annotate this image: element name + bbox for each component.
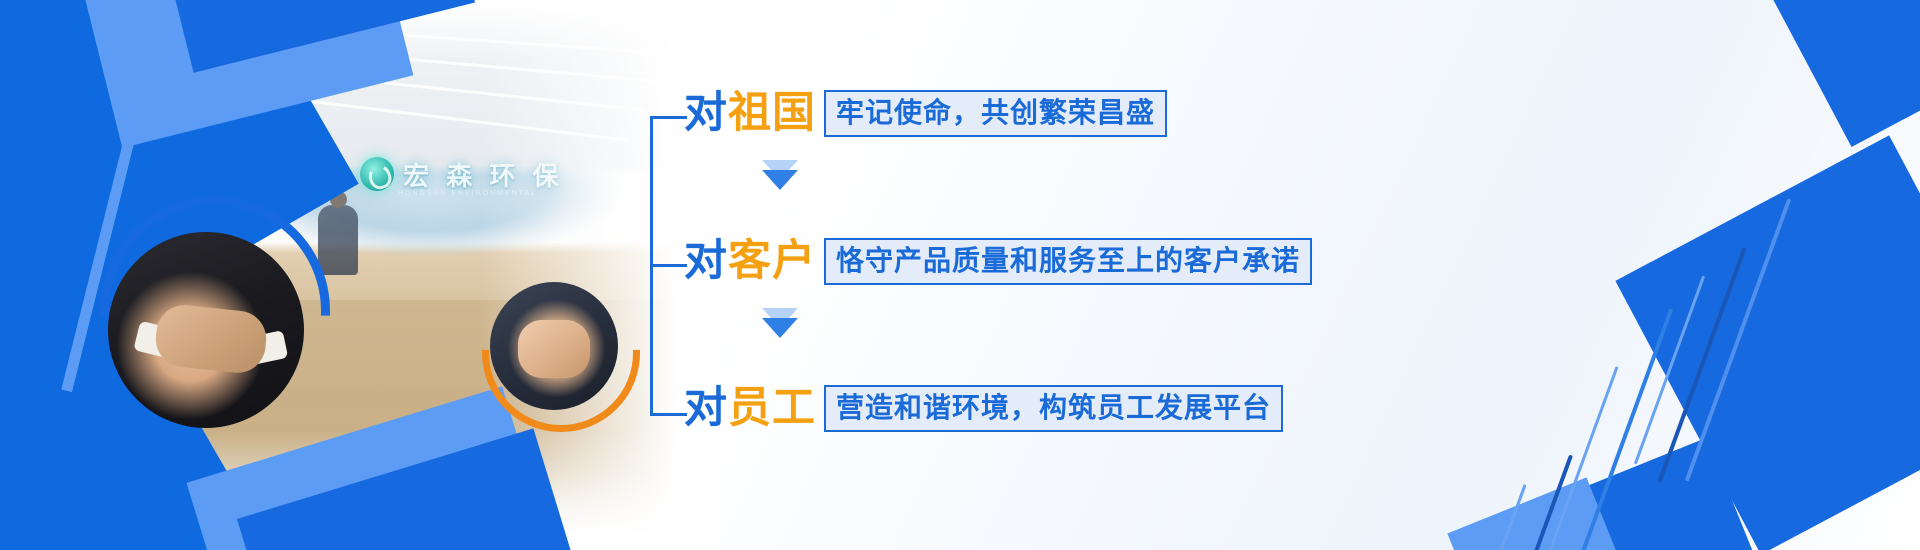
value-row-country[interactable]: 对祖国 牢记使命，共创繁荣昌盛 — [684, 90, 1167, 137]
value-lead-prefix: 对 — [684, 240, 728, 283]
decor-polygon-top-right — [1739, 0, 1920, 147]
triangle-down-icon — [762, 318, 798, 338]
bracket-connector — [650, 116, 687, 416]
value-lead-prefix: 对 — [684, 387, 728, 430]
value-lead-keyword: 祖国 — [728, 92, 816, 135]
value-lead-prefix: 对 — [684, 92, 728, 135]
values-list: 对祖国 牢记使命，共创繁荣昌盛 对客户 恪守产品质量和服务至上的客户承诺 对员工… — [650, 60, 1390, 480]
value-lead-customer: 对客户 — [684, 240, 816, 283]
value-tag-country: 牢记使命，共创繁荣昌盛 — [824, 90, 1167, 137]
receptionist-figure — [318, 205, 358, 275]
value-lead-employee: 对员工 — [684, 387, 816, 430]
bracket-tick-bottom — [653, 413, 687, 416]
value-row-employee[interactable]: 对员工 营造和谐环境，构筑员工发展平台 — [684, 385, 1283, 432]
value-tag-customer: 恪守产品质量和服务至上的客户承诺 — [824, 238, 1312, 285]
bracket-tick-middle — [653, 264, 687, 267]
company-logo-icon — [360, 157, 394, 191]
value-lead-keyword: 客户 — [728, 240, 816, 283]
value-lead-country: 对祖国 — [684, 92, 816, 135]
value-banner: 宏 森 环 保 HONGSEN ENVIRONMENTAL — [0, 0, 1920, 550]
bracket-tick-top — [653, 116, 687, 119]
value-row-customer[interactable]: 对客户 恪守产品质量和服务至上的客户承诺 — [684, 238, 1312, 285]
value-tag-employee: 营造和谐环境，构筑员工发展平台 — [824, 385, 1283, 432]
triangle-down-icon — [762, 170, 798, 190]
value-lead-keyword: 员工 — [728, 387, 816, 430]
